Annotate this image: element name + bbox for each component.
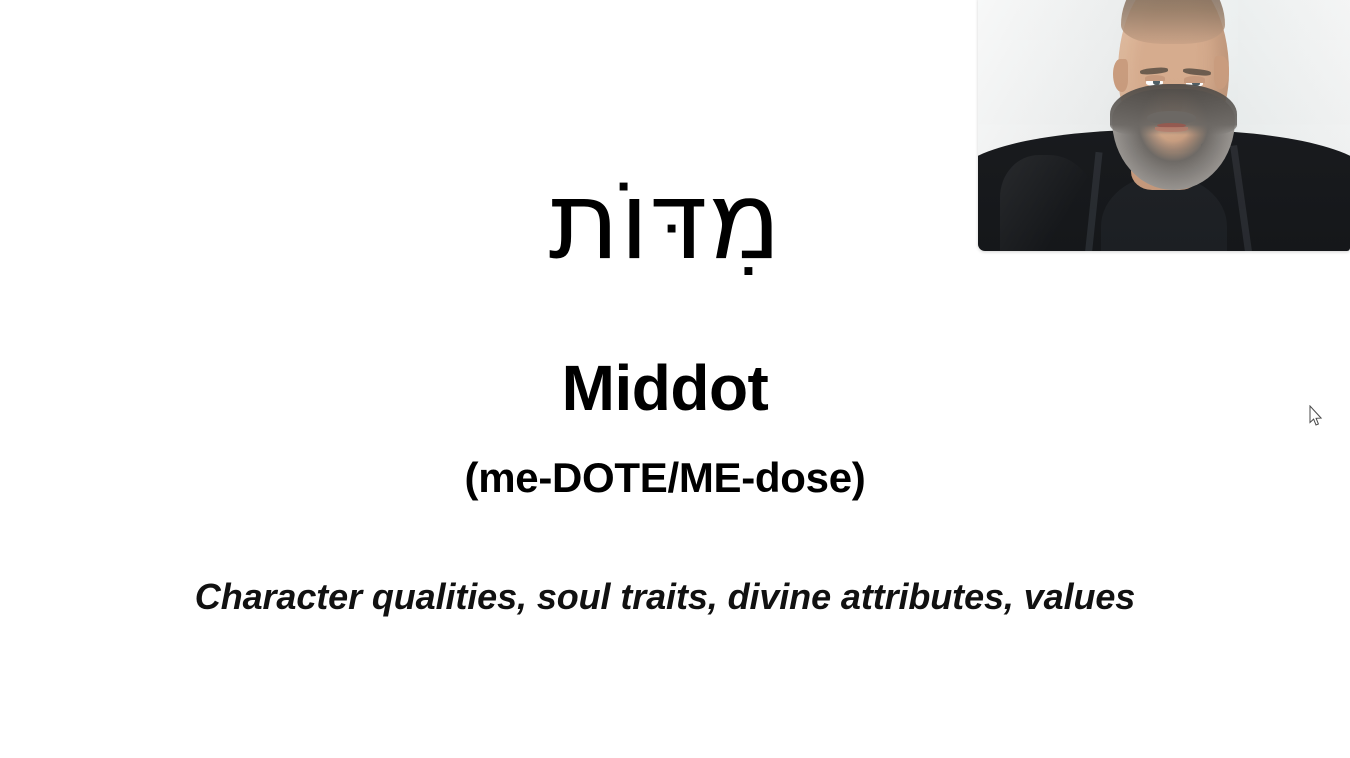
pronunciation-guide: (me-DOTE/ME-dose) — [0, 455, 1330, 501]
presenter-jacket-highlight — [1000, 155, 1097, 251]
definition-text: Character qualities, soul traits, divine… — [0, 576, 1330, 617]
presenter-eyelid-left — [1145, 75, 1166, 82]
presenter-lower-lip — [1155, 127, 1188, 133]
presentation-slide: מִדּוֹת Middot (me-DOTE/ME-dose) Charact… — [0, 0, 1350, 758]
presenter-ear-left — [1113, 59, 1129, 92]
transliteration-title: Middot — [0, 355, 1330, 422]
webcam-video-overlay[interactable] — [978, 0, 1350, 251]
presenter-hair — [1121, 0, 1225, 44]
presenter-eyelid-right — [1184, 76, 1205, 83]
